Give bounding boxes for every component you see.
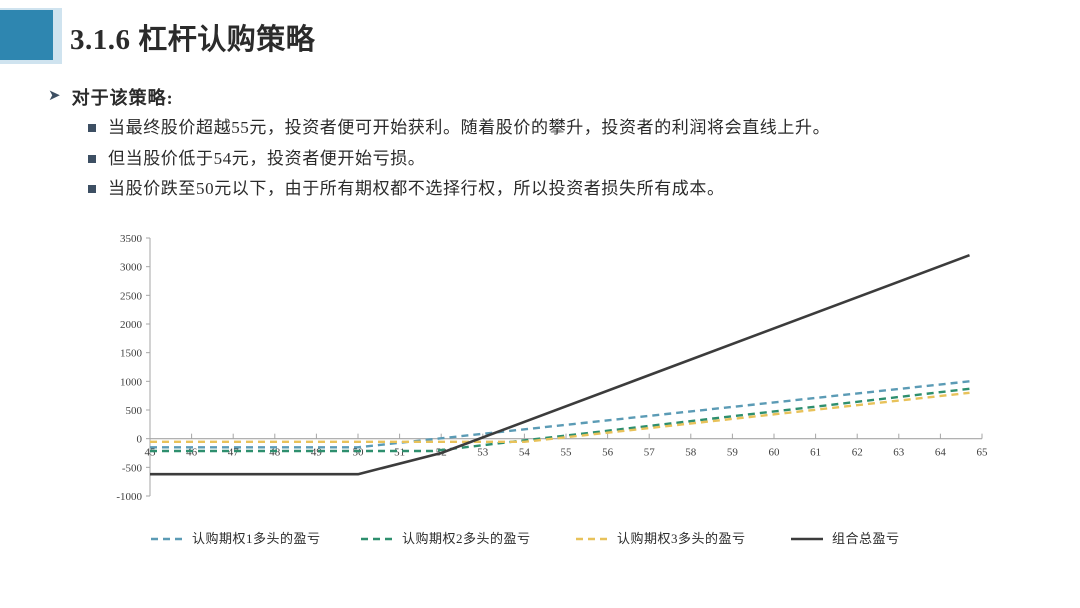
x-tick-label: 53 <box>477 447 489 459</box>
x-tick-label: 50 <box>353 447 365 459</box>
x-tick-label: 61 <box>810 447 821 459</box>
legend-swatch-icon <box>360 532 394 544</box>
x-tick-label: 59 <box>727 447 739 459</box>
title-accent-inner <box>0 10 53 60</box>
x-tick-label: 51 <box>394 447 405 459</box>
body-content: ➤ 对于该策略: 当最终股价超越55元，投资者便可开始获利。随着股价的攀升，投资… <box>48 84 1058 208</box>
list-item-text: 当股价跌至50元以下，由于所有期权都不选择行权，所以投资者损失所有成本。 <box>108 177 725 202</box>
page-title: 3.1.6 杠杆认购策略 <box>70 16 315 58</box>
x-tick-label: 65 <box>977 447 989 459</box>
legend-label: 认购期权3多头的盈亏 <box>617 528 746 547</box>
bullet-sublist: 当最终股价超越55元，投资者便可开始获利。随着股价的攀升，投资者的利润将会直线上… <box>88 116 1058 202</box>
y-tick-label: 500 <box>126 405 143 417</box>
chart-canvas: -1000-5000500100015002000250030003500454… <box>104 232 994 562</box>
series-line-3 <box>150 393 970 442</box>
y-tick-label: 0 <box>137 434 143 446</box>
square-bullet-icon <box>88 155 96 163</box>
square-bullet-icon <box>88 185 96 193</box>
legend-swatch-icon <box>790 532 824 544</box>
y-tick-label: 2500 <box>120 290 143 302</box>
list-item-text: 当最终股价超越55元，投资者便可开始获利。随着股价的攀升，投资者的利润将会直线上… <box>108 116 830 141</box>
y-tick-label: -500 <box>122 462 143 474</box>
legend-item[interactable]: 组合总盈亏 <box>790 528 940 547</box>
legend-swatch-icon <box>150 532 184 544</box>
list-item: 当最终股价超越55元，投资者便可开始获利。随着股价的攀升，投资者的利润将会直线上… <box>88 116 1058 141</box>
x-tick-label: 57 <box>644 447 656 459</box>
list-item-text: 但当股价低于54元，投资者便开始亏损。 <box>108 147 425 172</box>
legend-item[interactable]: 认购期权1多头的盈亏 <box>150 528 360 547</box>
bullet-lead: ➤ 对于该策略: <box>48 84 1058 110</box>
x-tick-label: 63 <box>893 447 905 459</box>
y-tick-label: -1000 <box>116 491 142 503</box>
payoff-chart: -1000-5000500100015002000250030003500454… <box>104 232 994 562</box>
legend-label: 认购期权2多头的盈亏 <box>402 528 531 547</box>
x-tick-label: 62 <box>852 447 863 459</box>
y-tick-label: 3500 <box>120 233 143 245</box>
x-tick-label: 46 <box>186 447 198 459</box>
x-tick-label: 45 <box>145 447 157 459</box>
y-tick-label: 1000 <box>120 376 143 388</box>
x-tick-label: 47 <box>228 447 240 459</box>
x-tick-label: 54 <box>519 447 531 459</box>
x-tick-label: 56 <box>602 447 614 459</box>
legend-swatch-icon <box>575 532 609 544</box>
x-tick-label: 58 <box>685 447 697 459</box>
list-item: 但当股价低于54元，投资者便开始亏损。 <box>88 147 1058 172</box>
legend-item[interactable]: 认购期权3多头的盈亏 <box>575 528 790 547</box>
x-tick-label: 55 <box>561 447 573 459</box>
x-tick-label: 48 <box>269 447 281 459</box>
legend-item[interactable]: 认购期权2多头的盈亏 <box>360 528 575 547</box>
y-tick-label: 1500 <box>120 348 143 360</box>
arrow-bullet-icon: ➤ <box>48 88 61 103</box>
x-tick-label: 60 <box>769 447 781 459</box>
bullet-lead-text: 对于该策略: <box>72 84 174 110</box>
y-tick-label: 3000 <box>120 262 143 274</box>
list-item: 当股价跌至50元以下，由于所有期权都不选择行权，所以投资者损失所有成本。 <box>88 177 1058 202</box>
y-tick-label: 2000 <box>120 319 143 331</box>
square-bullet-icon <box>88 124 96 132</box>
title-accent-block <box>0 8 62 64</box>
x-tick-label: 64 <box>935 447 947 459</box>
legend-label: 认购期权1多头的盈亏 <box>192 528 321 547</box>
x-tick-label: 49 <box>311 447 323 459</box>
legend-label: 组合总盈亏 <box>832 528 900 547</box>
chart-legend: 认购期权1多头的盈亏认购期权2多头的盈亏认购期权3多头的盈亏组合总盈亏 <box>150 528 1010 547</box>
